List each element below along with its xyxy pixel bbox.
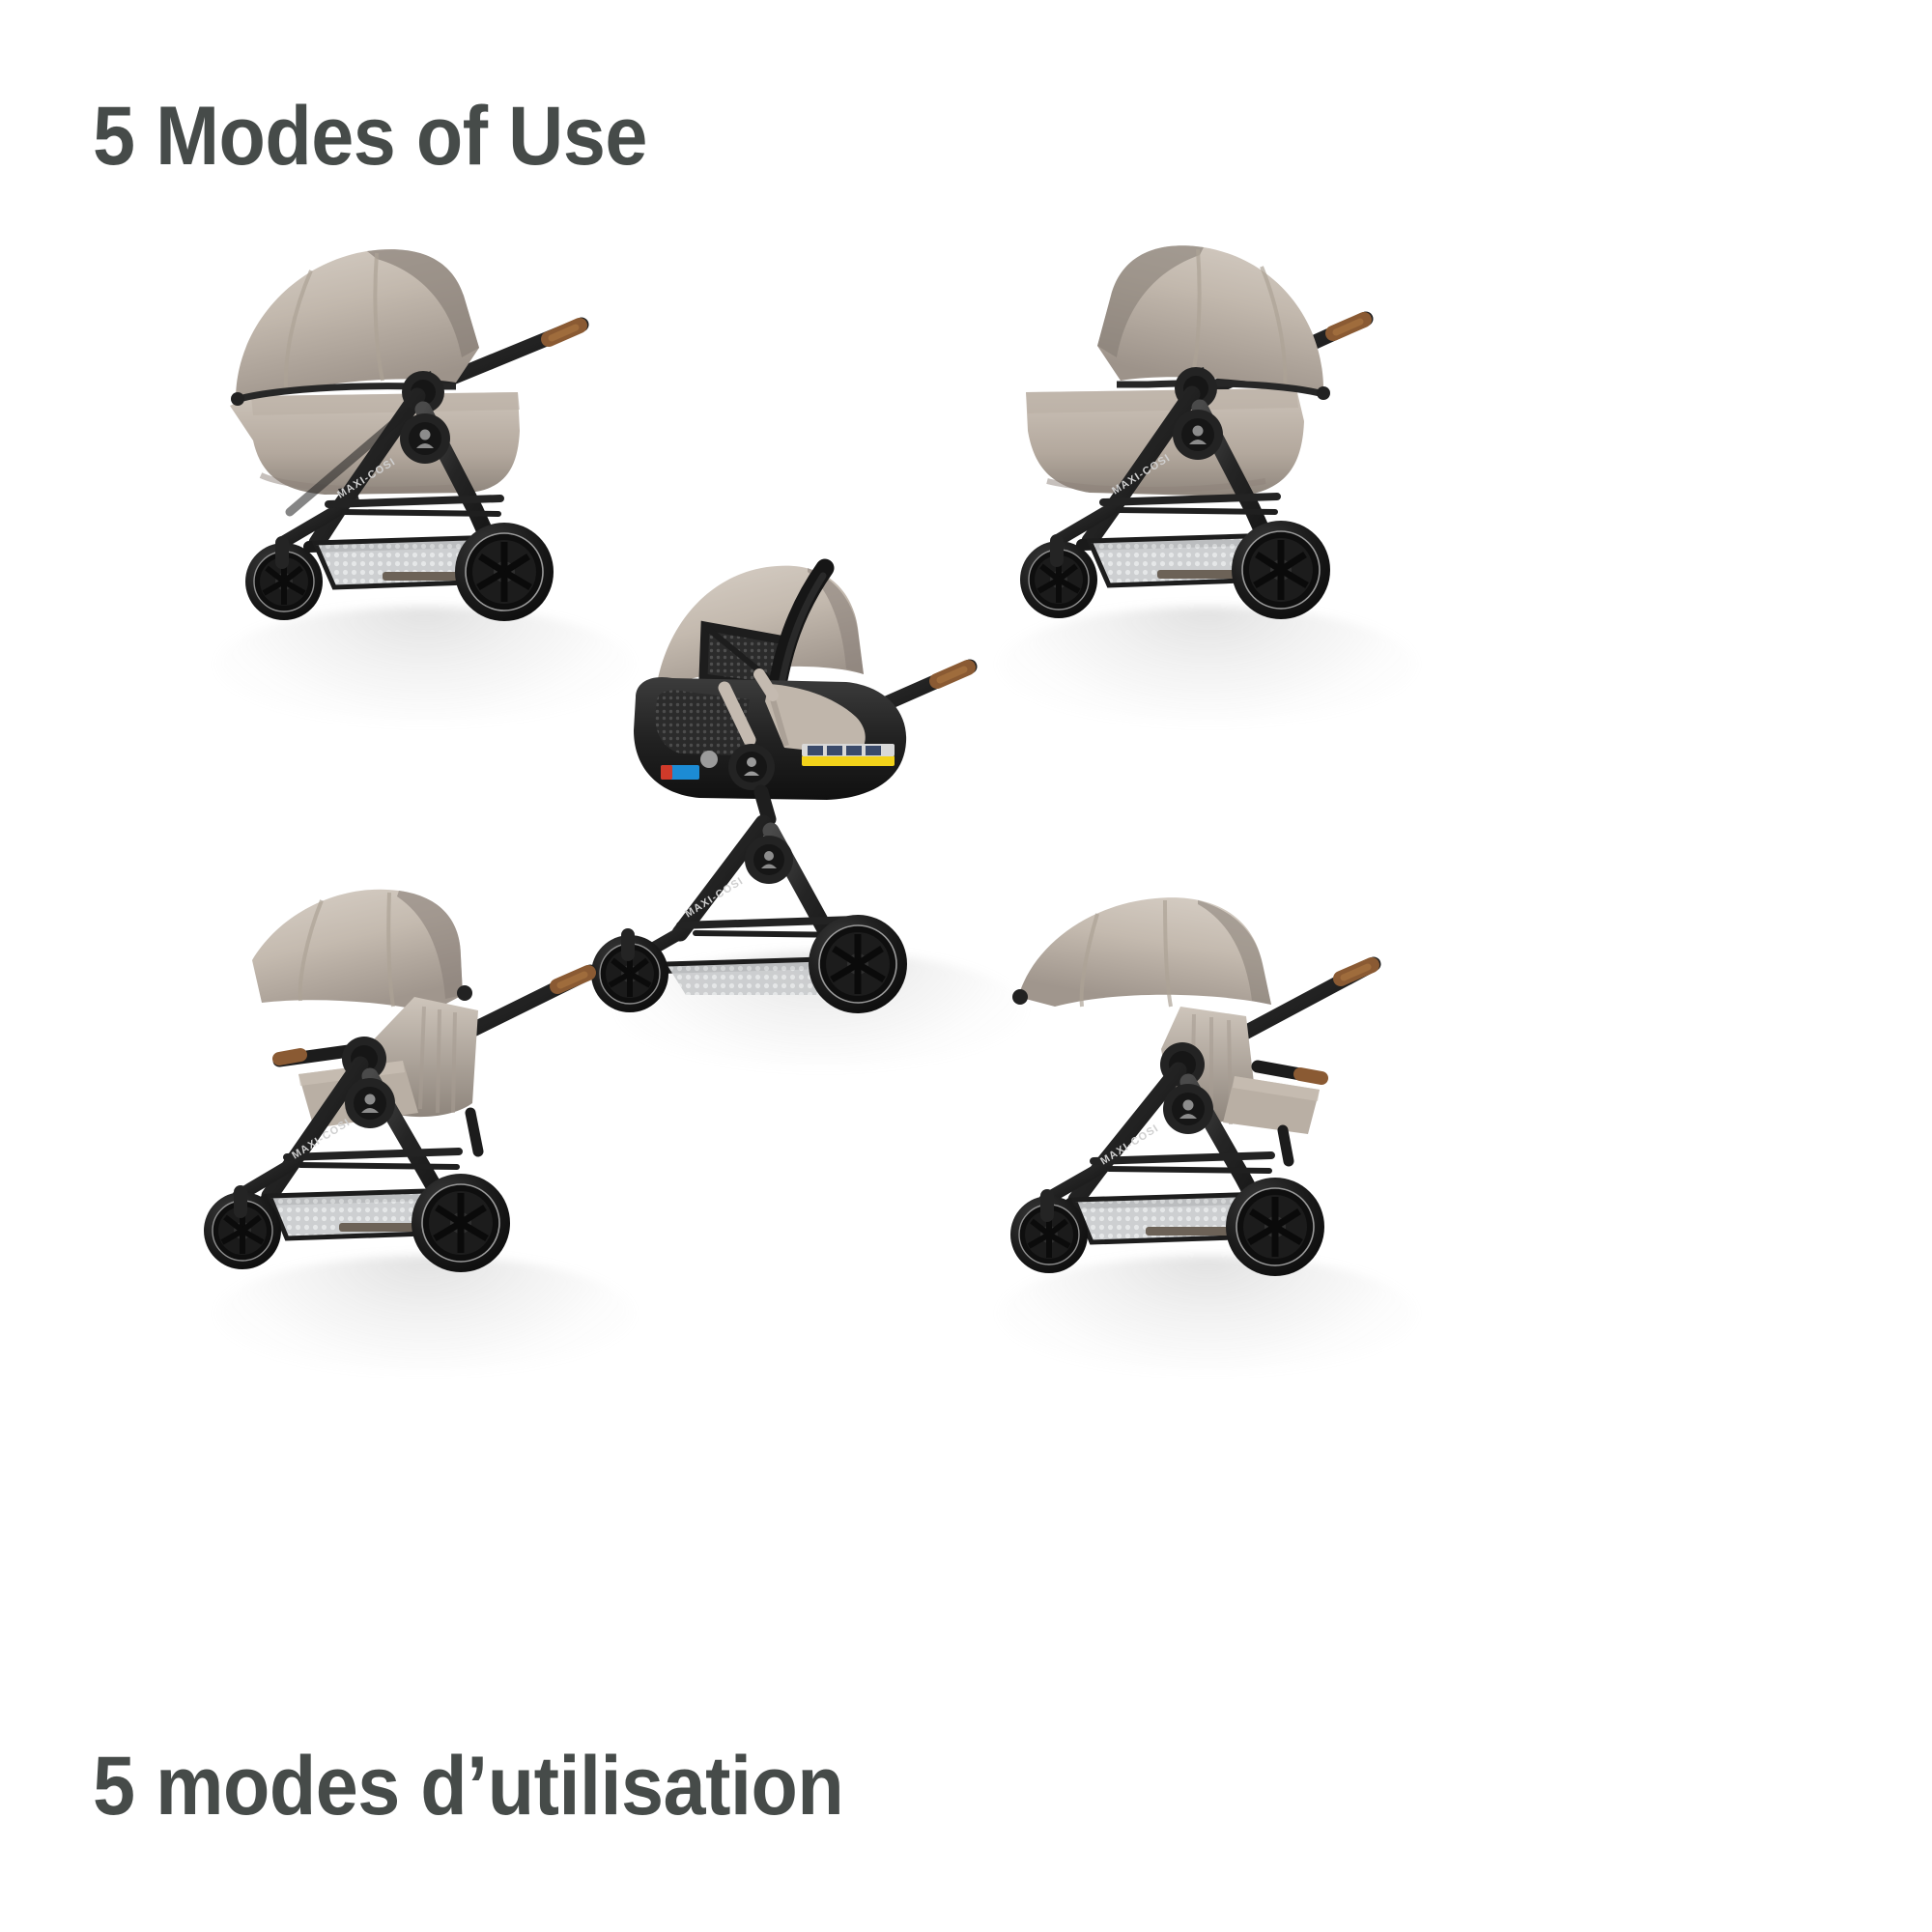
rear-wheel — [1232, 521, 1330, 619]
front-wheel — [245, 543, 323, 620]
product-stage: MAXI-COSI — [0, 0, 1932, 1932]
front-wheel — [204, 1192, 281, 1269]
seat-base — [1223, 1076, 1320, 1134]
canopy — [1097, 245, 1330, 400]
pivot-hub-logo — [345, 1078, 395, 1128]
product-seat-world-facing[interactable]: MAXI-COSI — [976, 840, 1459, 1285]
product-seat-parent-facing[interactable]: MAXI-COSI — [198, 840, 681, 1285]
pivot-hub-logo — [1163, 1084, 1213, 1134]
rear-wheel — [809, 915, 907, 1013]
pivot-hub-logo — [745, 836, 793, 884]
pivot-hub-logo — [400, 413, 450, 464]
rear-wheel — [1226, 1178, 1324, 1276]
rear-wheel — [455, 523, 554, 621]
rear-wheel — [412, 1174, 510, 1272]
pivot-hub-logo — [1173, 410, 1223, 460]
bumper-bar — [1258, 1066, 1321, 1078]
canopy — [1012, 897, 1271, 1007]
front-wheel — [1010, 1196, 1088, 1273]
canopy — [252, 890, 472, 1012]
bumper-bar — [279, 1051, 349, 1061]
